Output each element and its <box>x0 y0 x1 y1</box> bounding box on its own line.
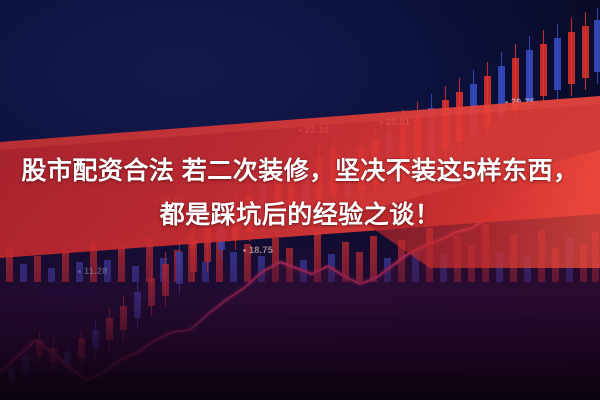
headline-line-1: 股市配资合法 若二次装修，坚决不装这5样东西， <box>10 150 590 192</box>
headline-text: 股市配资合法 若二次装修，坚决不装这5样东西， 都是踩坑后的经验之谈！ <box>0 150 600 236</box>
candle-body <box>594 20 600 72</box>
candle-body <box>554 38 561 90</box>
candle-body <box>428 108 435 156</box>
candle-body <box>568 32 575 84</box>
headline-line-2: 都是踩坑后的经验之谈！ <box>10 194 590 236</box>
candle-body <box>526 50 533 102</box>
candle-body <box>470 84 477 134</box>
candle-body <box>456 92 463 142</box>
candle-body <box>540 44 547 96</box>
candle-body <box>484 76 491 126</box>
candle-body <box>498 66 505 118</box>
banner-image: 18.0722.1025.0129.7511.2818.75 股市配资合法 若二… <box>0 0 600 400</box>
candle-body <box>512 58 519 110</box>
bottom-purple-haze <box>0 216 600 400</box>
candle-body <box>582 26 589 78</box>
candle-body <box>442 100 449 148</box>
